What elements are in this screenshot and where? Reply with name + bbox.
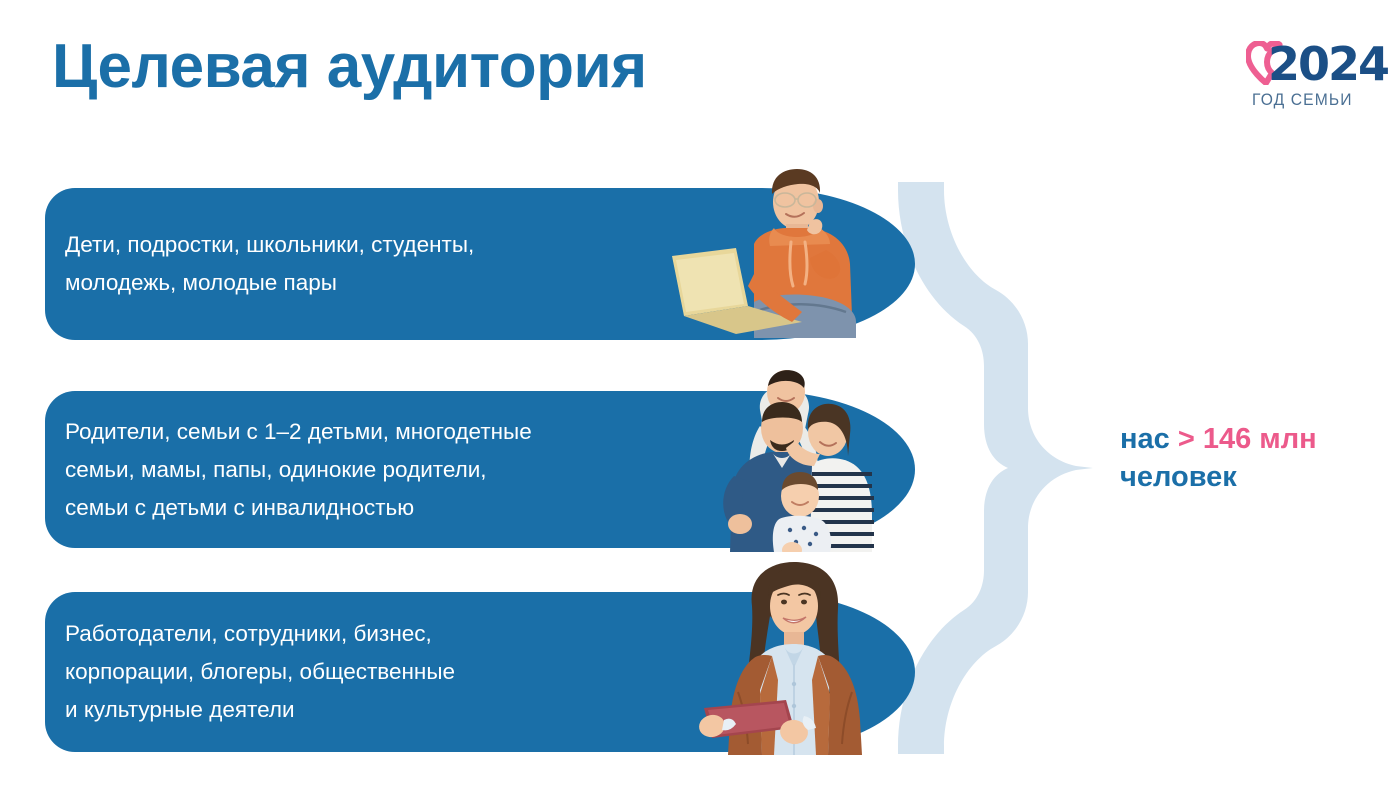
card-rounded-cap <box>605 188 915 340</box>
slide: Целевая аудитория 2024 ГОД СЕМЬИ Дети, п… <box>0 0 1400 788</box>
statement-suffix: человек <box>1120 461 1237 493</box>
year-of-family-logo: 2024 ГОД СЕМЬИ <box>1246 38 1372 116</box>
audience-card-text: Работодатели, сотрудники, бизнес, корпор… <box>65 615 455 729</box>
statement-highlight: > 146 млн <box>1178 423 1317 455</box>
page-title: Целевая аудитория <box>52 34 647 99</box>
card-rounded-cap <box>605 592 915 752</box>
logo-mark: 2024 <box>1246 38 1372 90</box>
logo-subtitle: ГОД СЕМЬИ <box>1252 90 1353 110</box>
audience-card-text: Дети, подростки, школьники, студенты, мо… <box>65 226 474 302</box>
statement-prefix: нас <box>1120 423 1178 455</box>
audience-card-employers[interactable]: Работодатели, сотрудники, бизнес, корпор… <box>45 592 605 752</box>
audience-total-statement: нас > 146 млн человек <box>1120 420 1380 496</box>
logo-year: 2024 <box>1268 37 1388 91</box>
audience-card-parents[interactable]: Родители, семьи с 1–2 детьми, многодетны… <box>45 391 605 548</box>
audience-card-youth[interactable]: Дети, подростки, школьники, студенты, мо… <box>45 188 605 340</box>
card-rounded-cap <box>605 391 915 548</box>
audience-card-text: Родители, семьи с 1–2 детьми, многодетны… <box>65 413 532 527</box>
curly-brace-decoration <box>898 182 1093 754</box>
